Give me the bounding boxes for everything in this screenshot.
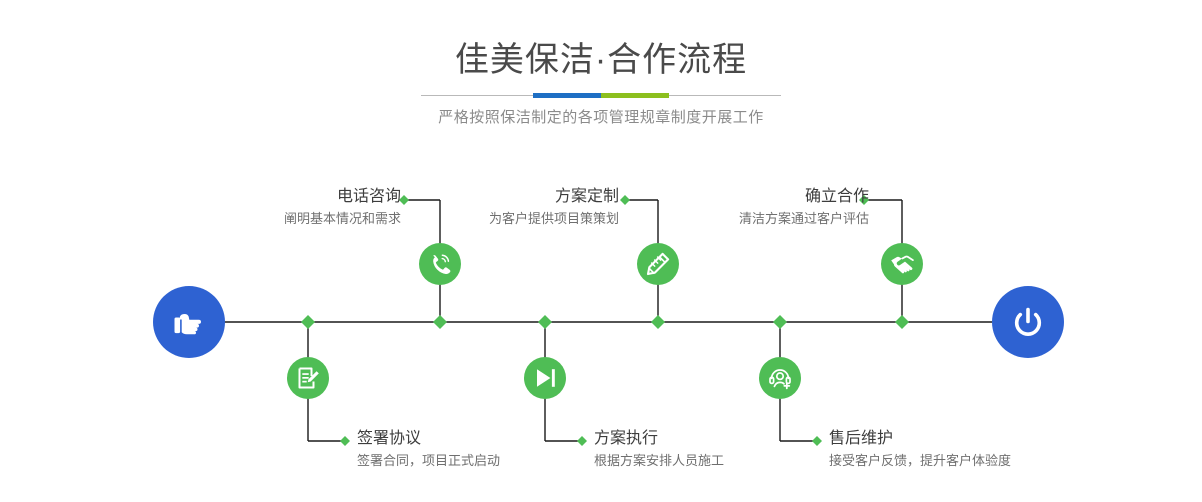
flow-connectors	[0, 0, 1202, 502]
step-title: 方案定制	[489, 186, 619, 207]
phone-call-icon	[427, 251, 453, 277]
step-icon-handshake[interactable]	[881, 243, 923, 285]
power-icon	[1008, 302, 1048, 342]
pencil-ruler-icon	[645, 251, 671, 277]
flow-end-node[interactable]	[992, 286, 1064, 358]
headset-add-icon	[767, 365, 793, 391]
step-desc: 接受客户反馈，提升客户体验度	[829, 451, 1011, 470]
step-icon-headset-add[interactable]	[759, 357, 801, 399]
label-diamond-markers	[340, 195, 869, 446]
play-skip-icon	[532, 365, 558, 391]
flow-start-node[interactable]	[153, 286, 225, 358]
step-desc: 签署合同，项目正式启动	[357, 451, 500, 470]
step-desc: 根据方案安排人员施工	[594, 451, 724, 470]
step-title: 方案执行	[594, 428, 724, 449]
handshake-icon	[889, 251, 916, 278]
step-icon-play-skip[interactable]	[524, 357, 566, 399]
step-label-5: 确立合作 清洁方案通过客户评估	[739, 186, 869, 228]
step-desc: 为客户提供项目策策划	[489, 209, 619, 228]
step-title: 确立合作	[739, 186, 869, 207]
pointing-hand-icon	[169, 302, 209, 342]
document-edit-icon	[295, 365, 321, 391]
step-label-2: 签署协议 签署合同，项目正式启动	[357, 428, 500, 470]
step-desc: 清洁方案通过客户评估	[739, 209, 869, 228]
step-title: 签署协议	[357, 428, 500, 449]
step-icon-phone-call[interactable]	[419, 243, 461, 285]
step-label-1: 电话咨询 阐明基本情况和需求	[284, 186, 401, 228]
step-label-4: 方案执行 根据方案安排人员施工	[594, 428, 724, 470]
step-label-3: 方案定制 为客户提供项目策策划	[489, 186, 619, 228]
step-icon-pencil-ruler[interactable]	[637, 243, 679, 285]
step-title: 电话咨询	[284, 186, 401, 207]
step-label-6: 售后维护 接受客户反馈，提升客户体验度	[829, 428, 1011, 470]
process-flow-diagram: 电话咨询 阐明基本情况和需求 签署协议 签署合同，项目正式启动 方案定制 为客户…	[0, 0, 1202, 502]
step-icon-document-edit[interactable]	[287, 357, 329, 399]
step-title: 售后维护	[829, 428, 1011, 449]
step-desc: 阐明基本情况和需求	[284, 209, 401, 228]
